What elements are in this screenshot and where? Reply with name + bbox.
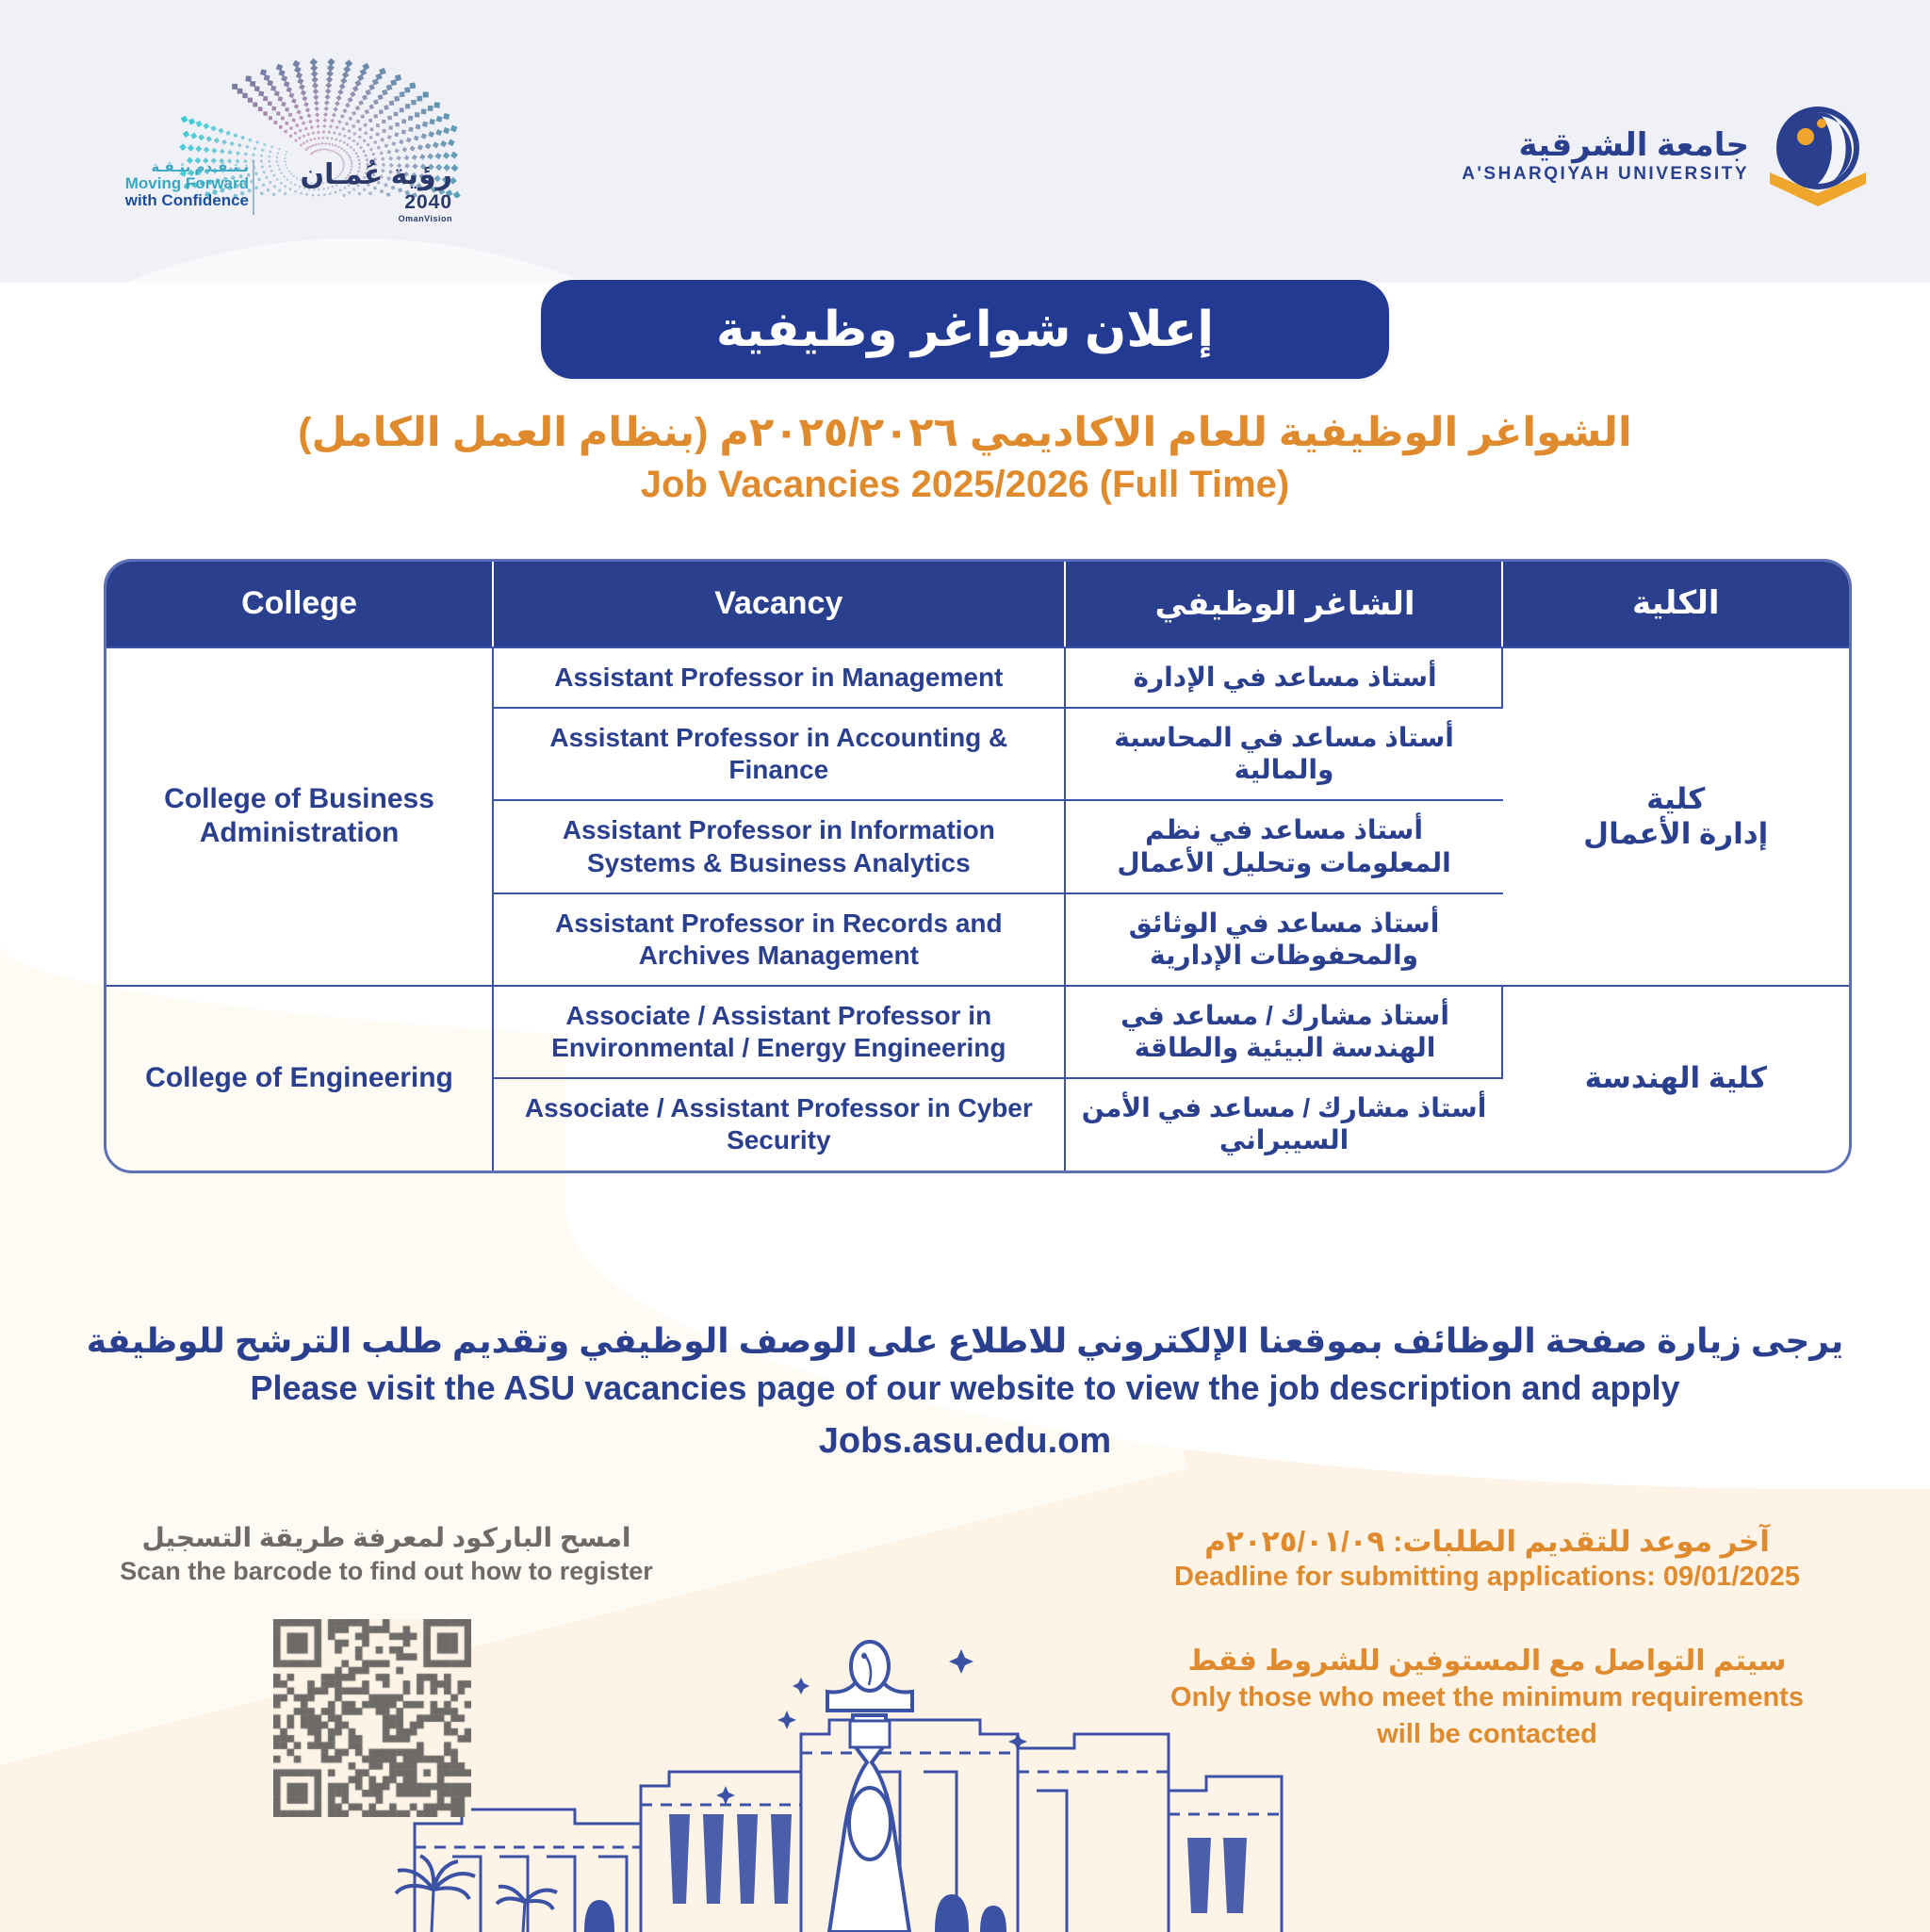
table-body: College of Business AdministrationAssist… bbox=[106, 647, 1849, 1171]
oman-vision-tagline-en2: with Confidence bbox=[60, 192, 249, 209]
oman-vision-tagline-en1: Moving Forward bbox=[60, 175, 249, 192]
cell-vacancy-ar: أستاذ مشارك / مساعد في الأمن السيبراني bbox=[1066, 1077, 1503, 1170]
cell-college-ar: كلية الهندسة bbox=[1503, 985, 1850, 1171]
oman-vision-wordmark: رؤية عُمـان 2040 OmanVision bbox=[264, 158, 452, 223]
table-row: College of EngineeringAssociate / Assist… bbox=[106, 985, 1849, 1077]
cell-vacancy-en: Assistant Professor in Accounting & Fina… bbox=[494, 707, 1066, 799]
university-name-en: A'SHARQIYAH UNIVERSITY bbox=[1462, 164, 1749, 185]
cell-college-en: College of Engineering bbox=[106, 985, 494, 1171]
deadline-ar: آخر موعد للتقديم الطلبات: ٢٠٢٥/٠١/٠٩م bbox=[1110, 1525, 1864, 1559]
cell-vacancy-en: Assistant Professor in Management bbox=[494, 647, 1066, 707]
contact-notice-ar: سيتم التواصل مع المستوفين للشروط فقط bbox=[1110, 1645, 1864, 1678]
page-title-banner: إعلان شواغر وظيفية bbox=[541, 280, 1389, 379]
oman-vision-wordmark-ar: رؤية عُمـان bbox=[264, 158, 452, 191]
table-header-row: College Vacancy الشاغر الوظيفي الكلية bbox=[106, 562, 1849, 647]
university-name-ar: جامعة الشرقية bbox=[1462, 127, 1749, 164]
table-row: College of Business AdministrationAssist… bbox=[106, 647, 1849, 707]
deadline-block: آخر موعد للتقديم الطلبات: ٢٠٢٥/٠١/٠٩م De… bbox=[1110, 1525, 1864, 1593]
cell-college-en: College of Business Administration bbox=[106, 647, 494, 985]
cell-college-ar: كليةإدارة الأعمال bbox=[1503, 647, 1850, 985]
apply-instructions-ar: يرجى زيارة صفحة الوظائف بموقعنا الإلكترو… bbox=[0, 1319, 1930, 1364]
header-vacancy-en: Vacancy bbox=[494, 562, 1066, 647]
oman-vision-wordmark-en: OmanVision bbox=[264, 214, 452, 223]
oman-vision-tagline-ar: نـتـقـدم بثـقـة bbox=[60, 160, 249, 175]
oman-vision-divider bbox=[253, 160, 254, 215]
contact-notice-en1: Only those who meet the minimum requirem… bbox=[1110, 1680, 1864, 1714]
header-vacancy-ar: الشاغر الوظيفي bbox=[1066, 562, 1503, 647]
header-college-ar: الكلية bbox=[1503, 562, 1850, 647]
vacancies-url[interactable]: Jobs.asu.edu.om bbox=[0, 1413, 1930, 1470]
deadline-en: Deadline for submitting applications: 09… bbox=[1110, 1562, 1864, 1593]
cell-vacancy-en: Associate / Assistant Professor in Cyber… bbox=[494, 1077, 1066, 1170]
cell-vacancy-ar: أستاذ مساعد في الإدارة bbox=[1066, 647, 1503, 707]
barcode-instructions-ar: امسح الباركود لمعرفة طريقة التسجيل bbox=[104, 1522, 669, 1553]
header-college-en: College bbox=[106, 562, 494, 647]
university-logo: جامعة الشرقية A'SHARQIYAH UNIVERSITY bbox=[1462, 99, 1873, 212]
vacancies-table: College Vacancy الشاغر الوظيفي الكلية Co… bbox=[104, 559, 1852, 1173]
table-header: College Vacancy الشاغر الوظيفي الكلية bbox=[106, 562, 1849, 647]
barcode-instructions: امسح الباركود لمعرفة طريقة التسجيل Scan … bbox=[104, 1522, 669, 1586]
cell-vacancy-ar: أستاذ مساعد في الوثائق والمحفوظات الإدار… bbox=[1066, 892, 1503, 985]
contact-notice: سيتم التواصل مع المستوفين للشروط فقط Onl… bbox=[1110, 1645, 1864, 1752]
cell-vacancy-ar: أستاذ مشارك / مساعد في الهندسة البيئية و… bbox=[1066, 985, 1503, 1077]
barcode-instructions-en: Scan the barcode to find out how to regi… bbox=[104, 1557, 669, 1586]
cell-vacancy-en: Assistant Professor in Records and Archi… bbox=[494, 892, 1066, 985]
page-title: إعلان شواغر وظيفية bbox=[716, 302, 1214, 358]
university-logo-text: جامعة الشرقية A'SHARQIYAH UNIVERSITY bbox=[1462, 127, 1749, 185]
oman-vision-tagline: نـتـقـدم بثـقـة Moving Forward with Conf… bbox=[60, 160, 249, 208]
apply-instructions-en: Please visit the ASU vacancies page of o… bbox=[0, 1364, 1930, 1413]
subtitle-english: Job Vacancies 2025/2026 (Full Time) bbox=[0, 460, 1930, 509]
apply-instructions: يرجى زيارة صفحة الوظائف بموقعنا الإلكترو… bbox=[0, 1319, 1930, 1470]
cell-vacancy-ar: أستاذ مساعد في المحاسبة والمالية bbox=[1066, 707, 1503, 799]
subtitle-arabic: الشواغر الوظيفية للعام الاكاديمي ٢٠٢٥/٢٠… bbox=[0, 410, 1930, 456]
asu-crescent-book-icon bbox=[1762, 103, 1873, 208]
subtitle-block: الشواغر الوظيفية للعام الاكاديمي ٢٠٢٥/٢٠… bbox=[0, 410, 1930, 509]
qr-code-icon[interactable] bbox=[273, 1619, 471, 1817]
cell-vacancy-en: Assistant Professor in Information Syste… bbox=[494, 799, 1066, 892]
cell-vacancy-en: Associate / Assistant Professor in Envir… bbox=[494, 985, 1066, 1077]
oman-vision-logo: نـتـقـدم بثـقـة Moving Forward with Conf… bbox=[57, 28, 462, 236]
contact-notice-en2: will be contacted bbox=[1110, 1717, 1864, 1751]
oman-vision-year: 2040 bbox=[264, 191, 452, 214]
cell-vacancy-ar: أستاذ مساعد في نظم المعلومات وتحليل الأع… bbox=[1066, 799, 1503, 892]
